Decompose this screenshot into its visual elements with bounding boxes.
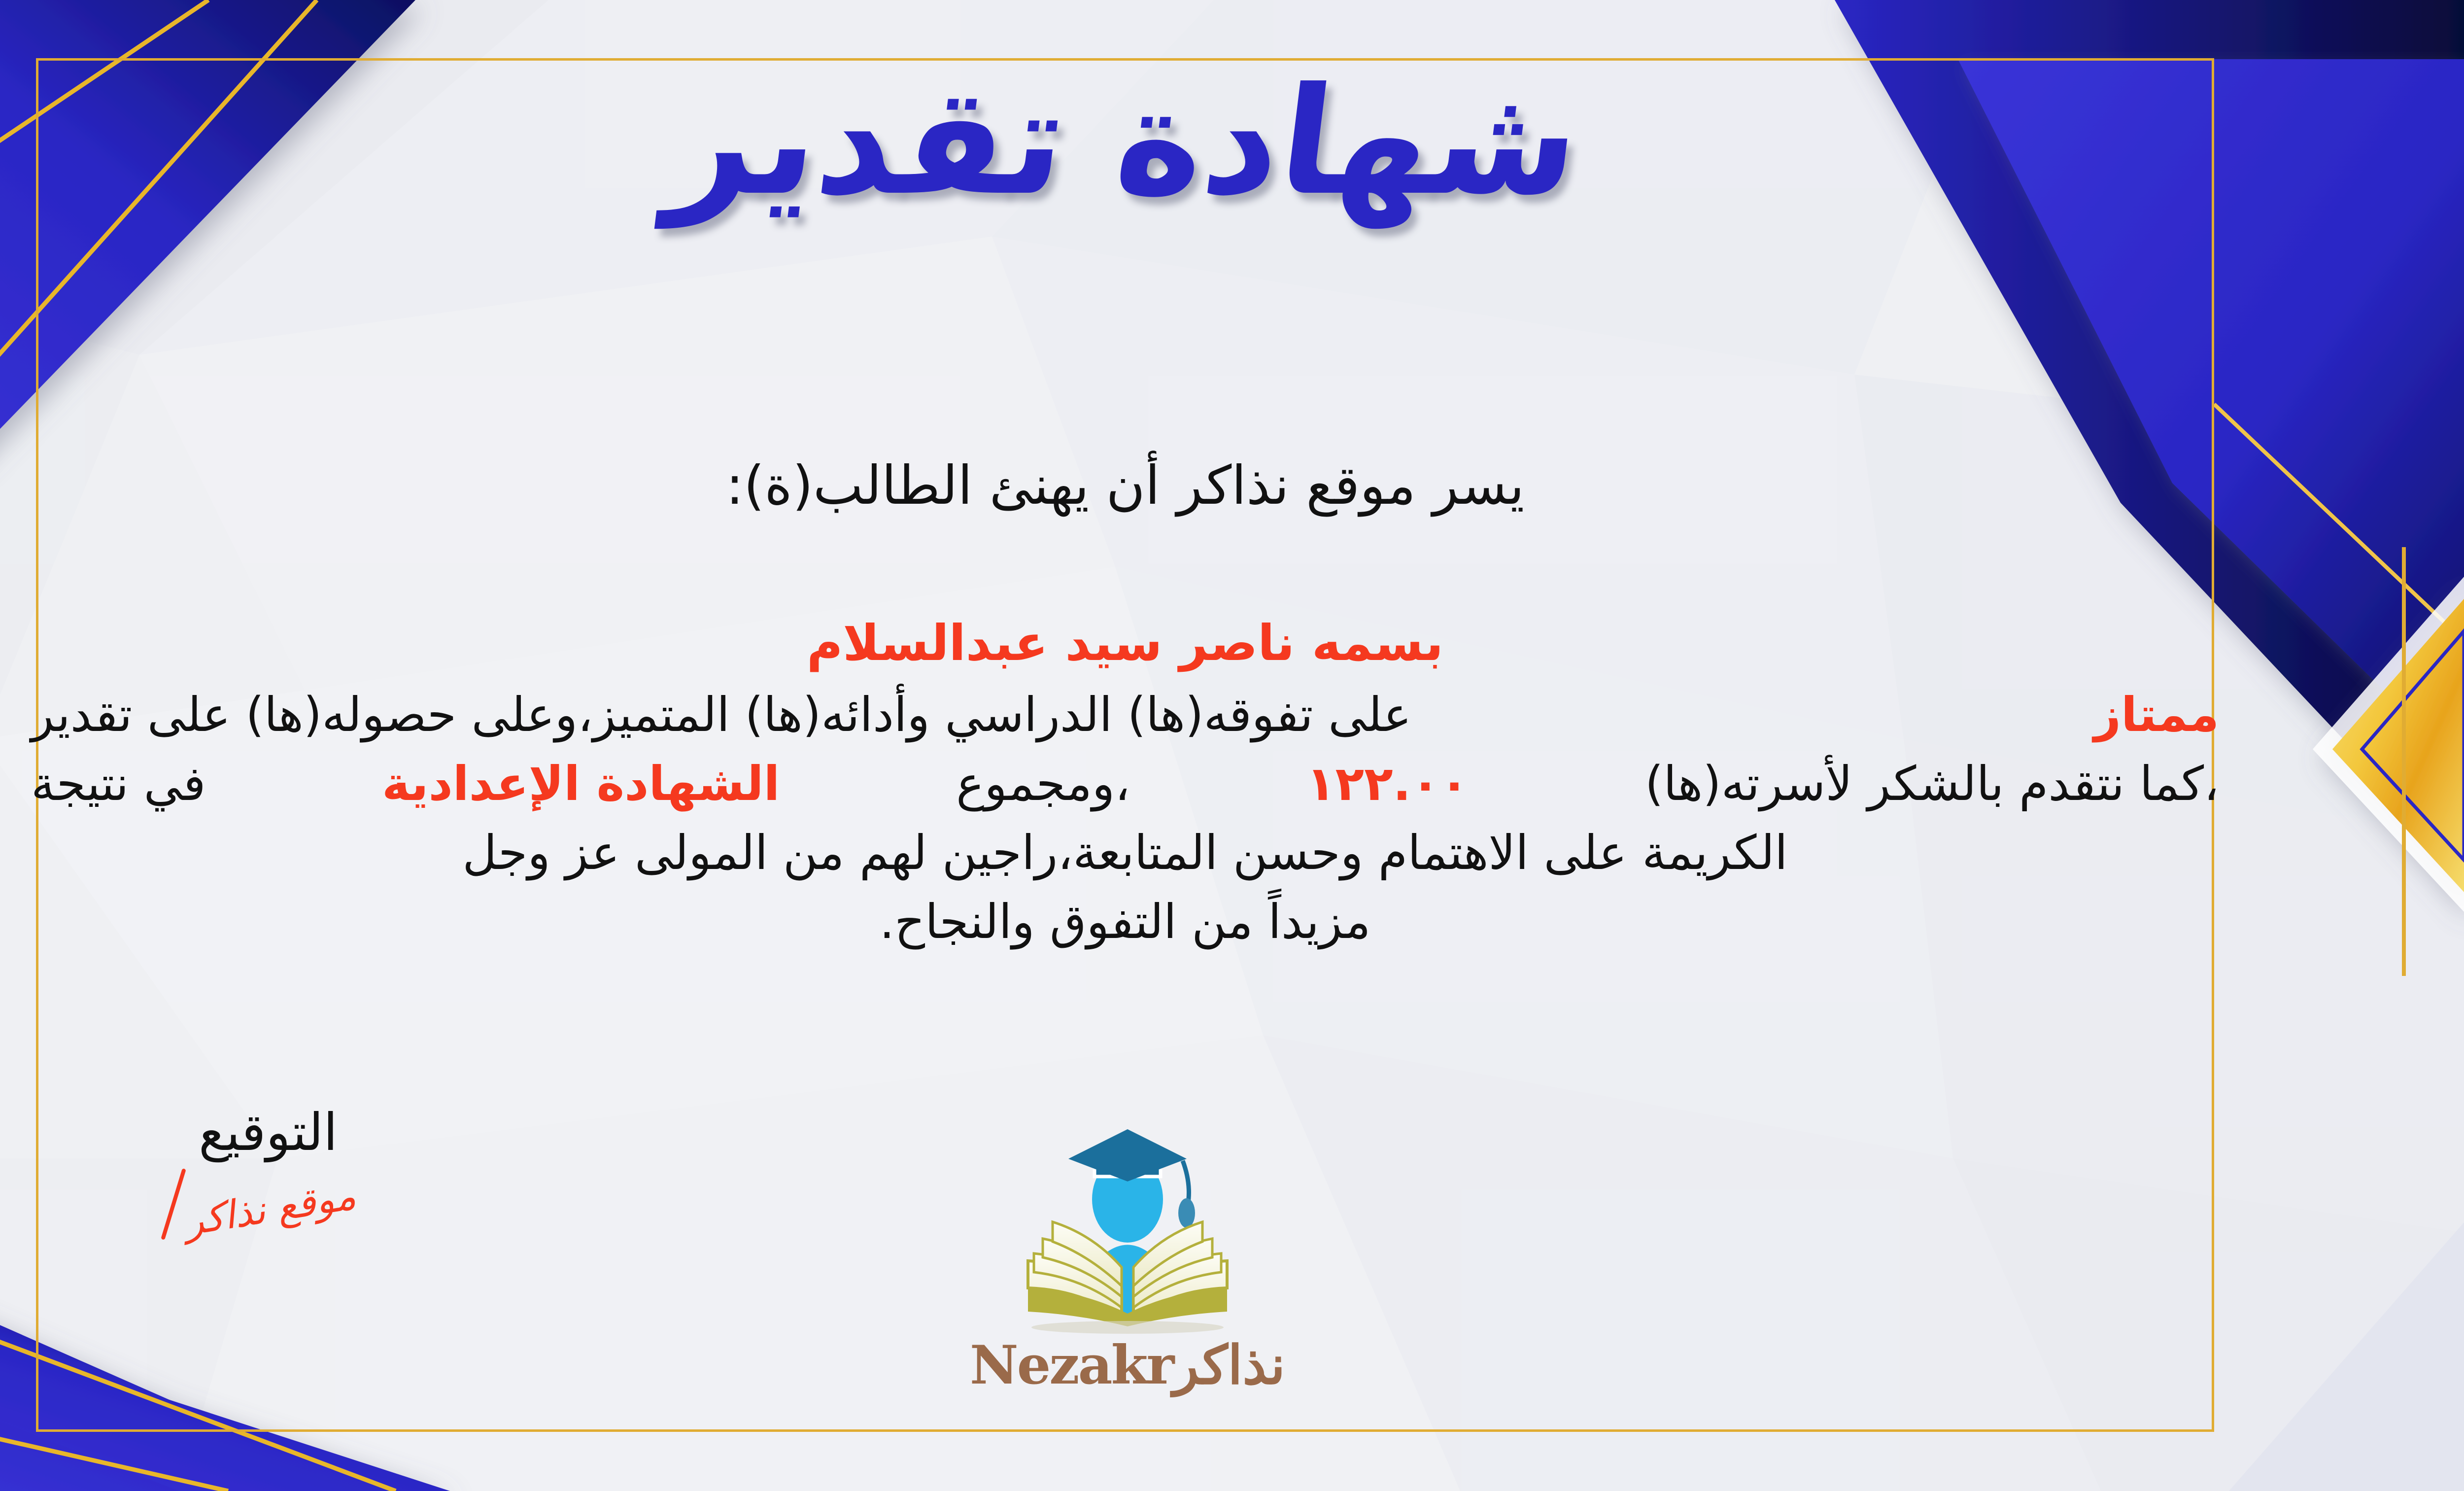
body-line-3: الكريمة على الاهتمام وحسن المتابعة،راجين… (31, 818, 2219, 887)
grade-value: ممتاز (2094, 680, 2219, 749)
logo-wordmark: نذاكرNezakr (940, 1334, 1315, 1396)
body-paragraph: ممتاز على تفوقه(ها) الدراسي وأدائه(ها) ا… (31, 680, 2219, 957)
body-line-2: ،كما نتقدم بالشكر لأسرته(ها) ١٢٢.٠٠ ،ومج… (31, 749, 2219, 818)
student-name: بسمه ناصر سيد عبدالسلام (36, 614, 2214, 672)
intro-line: يسر موقع نذاكر أن يهنئ الطالب(ة): (36, 455, 2214, 517)
exam-name: الشهادة الإعدادية (382, 749, 780, 818)
certificate-canvas: شهادة تقدير يسر موقع نذاكر أن يهنئ الطال… (0, 0, 2464, 1491)
body-line-2-left: ،كما نتقدم بالشكر لأسرته(ها) (1645, 749, 2219, 818)
body-line-1: ممتاز على تفوقه(ها) الدراسي وأدائه(ها) ا… (31, 680, 2219, 749)
body-line-2-mid: ،ومجموع (956, 749, 1130, 818)
body-line-2-right: في نتيجة (31, 749, 206, 818)
body-line-3-text: الكريمة على الاهتمام وحسن المتابعة،راجين… (462, 818, 1787, 887)
page-title: شهادة تقدير (27, 68, 2224, 216)
body-line-1-text: على تفوقه(ها) الدراسي وأدائه(ها) المتميز… (31, 680, 1411, 749)
body-line-4-text: مزيداً من التفوق والنجاح. (880, 887, 1371, 956)
brand-logo: نذاكرNezakr (940, 1125, 1315, 1421)
body-line-4: مزيداً من التفوق والنجاح. (31, 887, 2219, 956)
signature-label: التوقيع (199, 1102, 338, 1162)
certificate-content: شهادة تقدير يسر موقع نذاكر أن يهنئ الطال… (36, 58, 2214, 1432)
total-score: ١٢٢.٠٠ (1306, 749, 1469, 818)
graduate-book-icon (990, 1125, 1266, 1337)
signature-handwriting: موقع نذاكر (181, 1174, 359, 1245)
